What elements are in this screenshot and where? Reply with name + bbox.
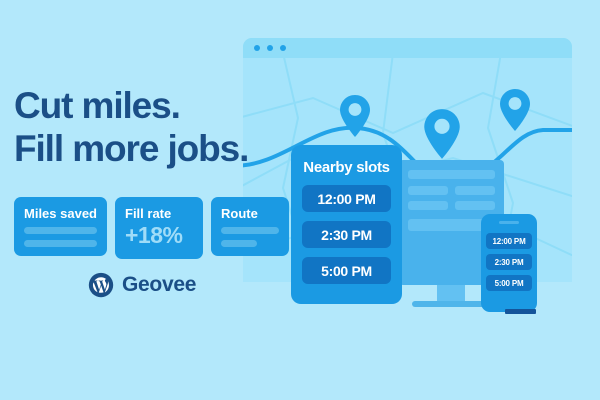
stat-card-group: Miles saved Fill rate +18% Route	[14, 197, 289, 259]
content-placeholder-bar	[24, 227, 97, 234]
map-pin-icon	[423, 108, 461, 160]
phone-slot-option[interactable]: 12:00 PM	[486, 233, 532, 249]
wordpress-logo-icon	[88, 272, 114, 298]
window-dot-icon	[267, 45, 273, 51]
promo-banner: Nearby slots 12:00 PM 2:30 PM 5:00 PM 12…	[0, 0, 600, 400]
stat-card-title: Route	[221, 206, 279, 221]
content-placeholder-bar	[221, 227, 279, 234]
content-placeholder-bar	[408, 201, 448, 210]
content-placeholder-bar	[455, 186, 495, 195]
content-placeholder-bar	[455, 201, 495, 210]
map-pin-icon	[499, 88, 531, 132]
content-placeholder-bar	[408, 186, 448, 195]
content-placeholder-columns	[408, 186, 495, 210]
phone-mockup: 12:00 PM 2:30 PM 5:00 PM	[481, 214, 537, 312]
phone-base-shadow	[505, 309, 536, 314]
slot-option[interactable]: 2:30 PM	[302, 221, 391, 248]
content-placeholder-column	[455, 186, 495, 210]
headline-line-1: Cut miles.	[14, 84, 314, 127]
content-placeholder-bar	[24, 240, 97, 247]
brand-lockup: Geovee	[88, 272, 196, 298]
slot-option[interactable]: 12:00 PM	[302, 185, 391, 212]
map-pin-icon	[339, 94, 371, 138]
window-control-dots	[254, 45, 286, 51]
headline-line-2: Fill more jobs.	[14, 127, 314, 170]
stat-card-value: +18%	[125, 222, 193, 248]
stat-card-fill-rate[interactable]: Fill rate +18%	[115, 197, 203, 259]
content-placeholder-bar	[221, 240, 257, 247]
window-dot-icon	[280, 45, 286, 51]
phone-slot-option[interactable]: 2:30 PM	[486, 254, 532, 270]
stat-card-title: Fill rate	[125, 206, 193, 221]
page-title: Cut miles. Fill more jobs.	[14, 84, 314, 170]
content-placeholder-column	[408, 186, 448, 210]
stat-card-title: Miles saved	[24, 206, 97, 221]
nearby-slots-title: Nearby slots	[302, 159, 391, 176]
monitor-stand-base	[412, 301, 490, 307]
phone-slot-option[interactable]: 5:00 PM	[486, 275, 532, 291]
brand-name: Geovee	[122, 273, 196, 297]
window-dot-icon	[254, 45, 260, 51]
browser-title-bar	[243, 38, 572, 58]
phone-speaker-icon	[499, 221, 519, 224]
slot-option[interactable]: 5:00 PM	[302, 257, 391, 284]
content-placeholder-bar	[408, 170, 495, 179]
stat-card-miles-saved[interactable]: Miles saved	[14, 197, 107, 256]
stat-card-route[interactable]: Route	[211, 197, 289, 256]
